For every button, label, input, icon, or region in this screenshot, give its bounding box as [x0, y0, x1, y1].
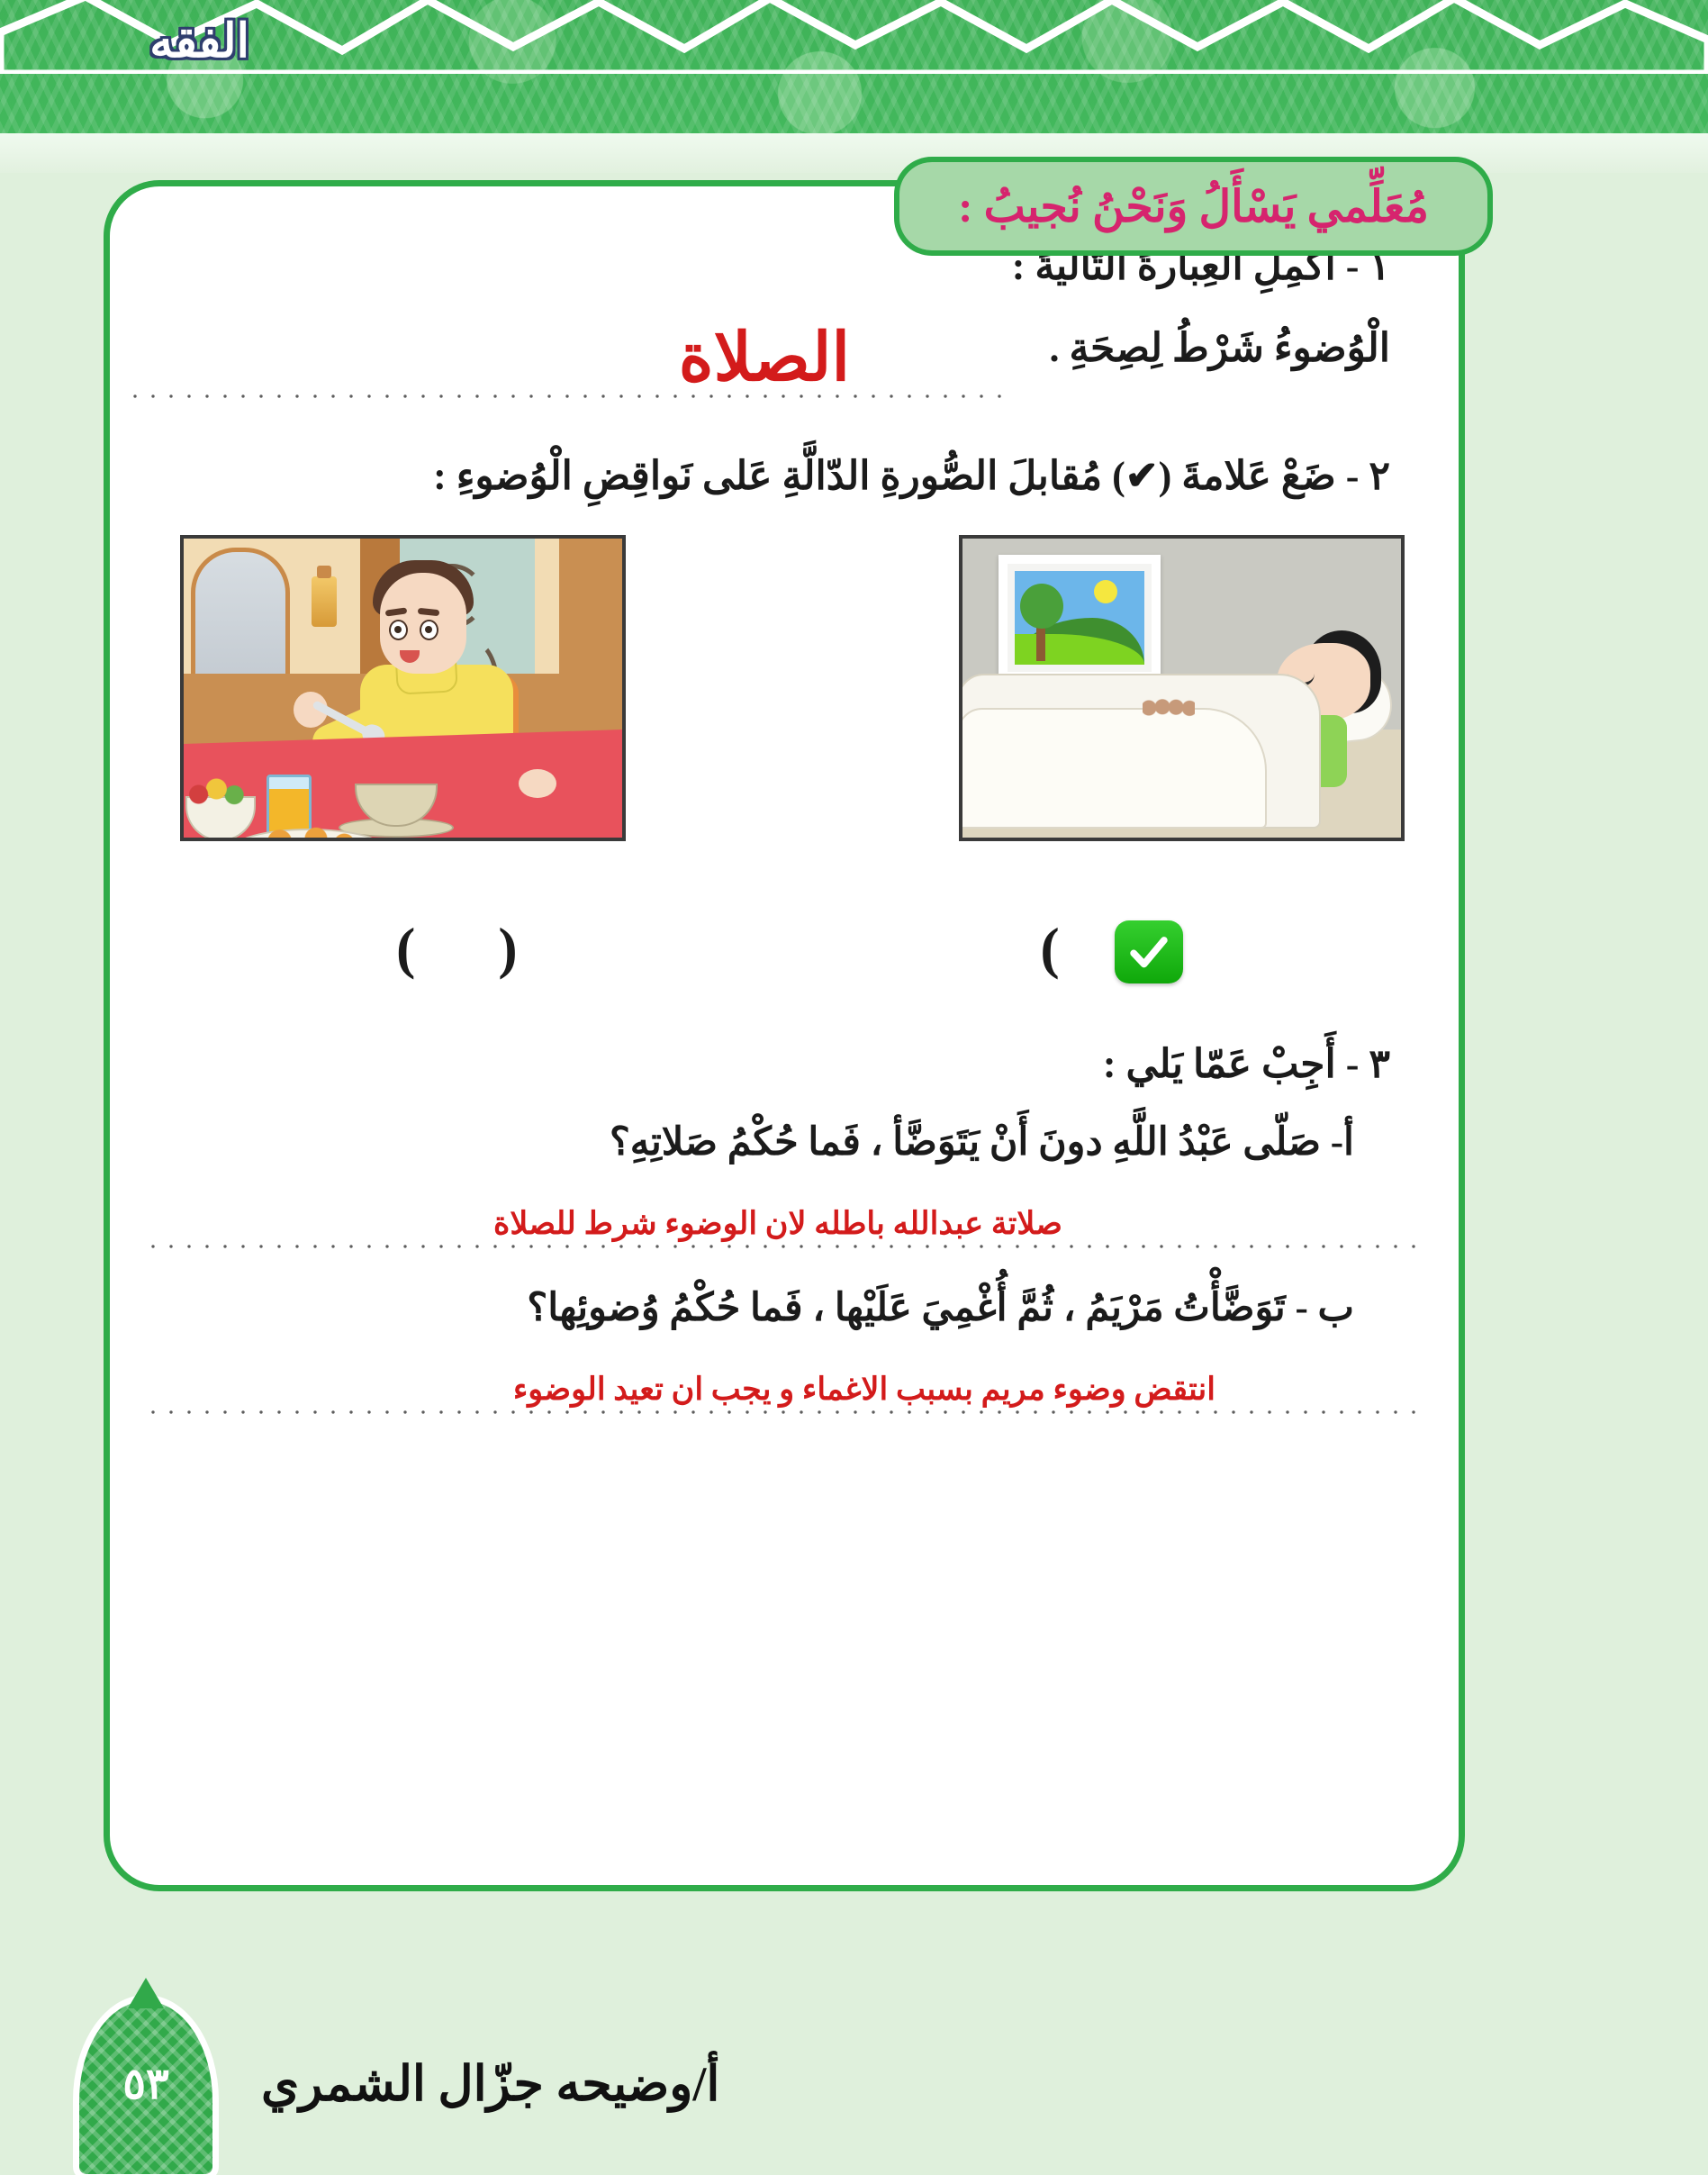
worksheet-page: الفقه مُعَلِّمي يَسْأَلُ وَنَحْنُ نُجيبُ…: [0, 0, 1708, 2175]
title-banner-text: مُعَلِّمي يَسْأَلُ وَنَحْنُ نُجيبُ :: [958, 181, 1429, 232]
question-3a-answer-row: صلاتة عبدالله باطله لان الوضوء شرط للصلا…: [126, 1175, 1441, 1253]
question-2-prompt: ٢ - ضَعْ عَلامةَ (✔) مُقابلَ الصُّورةِ ا…: [126, 453, 1390, 499]
question-1-answer-row: الْوُضوءُ شَرْطُ لِصِحَةِ . الصلاة: [126, 320, 1390, 404]
boy-eye-left: [389, 620, 408, 640]
question-2-answer-row: ( ) ( ): [126, 915, 1441, 1014]
question-3a-label: أ- صَلّى عَبْدُ اللَّهِ دونَ أَنْ يَتَوَ…: [126, 1119, 1354, 1165]
bracket-left-option[interactable]: ( ): [396, 915, 552, 982]
question-3-prompt: ٣ - أَجِبْ عَمّا يَلي :: [126, 1041, 1390, 1087]
checkmark-badge-icon[interactable]: [1115, 920, 1183, 983]
question-1-dotted-line[interactable]: [126, 394, 1003, 399]
arched-window: [191, 548, 290, 692]
minaret-finial-icon: [128, 1978, 164, 2008]
question-3b-handwritten-answer: انتقض وضوء مريم بسبب الاغماء و يجب ان تع…: [513, 1372, 1215, 1408]
question-1-stem: الْوُضوءُ شَرْطُ لِصِحَةِ .: [1049, 325, 1390, 371]
subject-label: الفقه: [149, 14, 249, 68]
eggs: [258, 825, 358, 841]
worksheet-body: ١ - أَكْمِلِ الْعِبارةَ التّاليةَ : الْو…: [126, 243, 1441, 1418]
question-3b-dotted-line[interactable]: [144, 1409, 1423, 1415]
question-3b-label: ب - تَوَضَّأْتُ مَرْيَمُ ، ثُمَّ أُغْمِي…: [126, 1285, 1354, 1330]
scallop-ornament-icon: [0, 0, 1708, 74]
wall-picture-frame-icon: [999, 555, 1161, 681]
question-3a-handwritten-answer: صلاتة عبدالله باطله لان الوضوء شرط للصلا…: [493, 1206, 1062, 1242]
title-banner: مُعَلِّمي يَسْأَلُ وَنَحْنُ نُجيبُ :: [894, 157, 1493, 256]
question-2-picture-row: [126, 535, 1441, 913]
wall-lantern-icon: [312, 576, 337, 627]
boy-hand-resting: [519, 769, 556, 798]
boy-eye-right: [420, 620, 438, 640]
sleeper-fingers: [1143, 699, 1195, 717]
picture-boy-eating[interactable]: [180, 535, 626, 841]
page-header-band: الفقه: [0, 0, 1708, 133]
framed-sun-icon: [1094, 580, 1117, 603]
sleeping-scene-illustration: [962, 539, 1401, 838]
page-footer: ٥٣ أ/وضيحه جزّال الشمري: [0, 2008, 1708, 2175]
fruit: [189, 778, 249, 805]
question-3b-answer-row: انتقض وضوء مريم بسبب الاغماء و يجب ان تع…: [126, 1341, 1441, 1418]
picture-sleeping-person[interactable]: [959, 535, 1405, 841]
framed-tree-icon: [1020, 584, 1063, 661]
question-3a-dotted-line[interactable]: [144, 1244, 1423, 1249]
teacher-name: أ/وضيحه جزّال الشمري: [261, 2055, 719, 2112]
blanket: [959, 708, 1267, 829]
question-1-handwritten-answer: الصلاة: [679, 319, 850, 397]
page-number: ٥٣: [79, 2059, 212, 2109]
eating-scene-illustration: [184, 539, 622, 838]
